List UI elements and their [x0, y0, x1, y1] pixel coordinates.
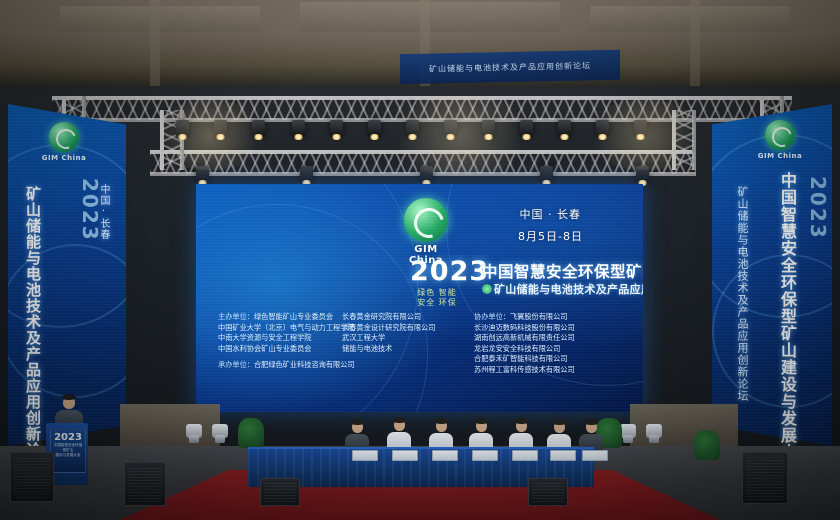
gim-mark-icon: [49, 122, 79, 152]
undertaker-line: 承办单位：合肥绿色矿业科技咨询有限公司: [218, 360, 355, 370]
conference-title-sub: 矿山储能与电池技术及产品应用创新论坛: [482, 281, 643, 297]
name-card: [550, 450, 576, 461]
name-card: [512, 450, 538, 461]
moving-head-light: [212, 424, 228, 438]
upper-screen-text: 矿山储能与电池技术及产品应用创新论坛: [429, 60, 591, 74]
par-light: [558, 120, 571, 137]
upper-screen-strip: 矿山储能与电池技术及产品应用创新论坛: [400, 50, 620, 85]
stage-step-left: [120, 404, 220, 451]
name-card: [352, 450, 378, 461]
person-head: [554, 421, 565, 433]
name-card: [432, 450, 458, 461]
ceiling-beam: [150, 0, 160, 86]
name-card: [582, 450, 608, 461]
undertaker-item-0: 合肥绿色矿业科技咨询有限公司: [254, 360, 355, 369]
support-item-3: 龙岩龙安安全科技有限公司: [474, 344, 624, 355]
decor-arc: [446, 184, 643, 386]
person-head: [476, 420, 487, 432]
support-label: 协办单位：: [474, 312, 510, 321]
left-gim-logo: GIM China: [34, 122, 94, 162]
forum-bullet-icon: [482, 284, 492, 294]
right-year: 2023: [806, 176, 830, 240]
person-head: [516, 420, 527, 432]
par-light: [636, 166, 649, 183]
stage-photo: 矿山储能与电池技术及产品应用创新论坛 GIM China 2023 中国·长春 …: [0, 0, 840, 520]
person-head: [394, 419, 405, 431]
organizer-block: 主办单位：绿色智能矿山专业委员会 中国矿业大学（北京）电气与动力工程学院 中南大…: [196, 312, 643, 375]
left-title: 矿山储能与电池技术及产品应用创新论坛: [24, 186, 41, 474]
host-column: 主办单位：绿色智能矿山专业委员会 中国矿业大学（北京）电气与动力工程学院 中南大…: [218, 312, 338, 375]
host-item-2-line: 中南大学资源与安全工程学院: [218, 333, 338, 344]
gim-mark-icon: [765, 120, 795, 150]
support-label-line: 协办单位：飞翼股份有限公司: [474, 312, 624, 323]
par-light: [482, 120, 495, 137]
person-head: [436, 420, 447, 432]
conference-place: 中国 · 长春: [520, 206, 582, 222]
conference-logo-wordmark: GIM China: [396, 244, 456, 266]
host-item-3-line: 中国水利协会矿山专业委员会: [218, 344, 338, 355]
right-title-main: 中国智慧安全环保型矿山建设与发展大会: [778, 172, 796, 478]
person-head: [352, 421, 363, 433]
host-item-0: 绿色智能矿山专业委员会: [254, 312, 333, 321]
conference-logo-icon: [404, 198, 448, 242]
conference-title-sub-text: 矿山储能与电池技术及产品应用创新论坛: [494, 283, 643, 296]
par-light: [214, 120, 227, 137]
decor-arc: [196, 204, 428, 412]
conference-slogan: 绿色 智能 安全 环保: [402, 288, 472, 308]
host-label: 主办单位：: [218, 312, 254, 321]
pa-speaker: [260, 478, 300, 506]
cohost-item-3: 储能与电池技术: [342, 344, 470, 355]
gim-wordmark: GIM China: [34, 154, 94, 162]
cohost-item-0: 长春黄金研究院有限公司: [342, 312, 470, 323]
pa-speaker: [528, 478, 568, 506]
par-light: [196, 166, 209, 183]
cohost-item-1: 长春黄金设计研究院有限公司: [342, 323, 470, 334]
par-light: [420, 166, 433, 183]
par-light: [252, 120, 265, 137]
par-light: [444, 120, 457, 137]
right-title-sub: 矿山储能与电池技术及产品应用创新论坛: [736, 186, 749, 402]
par-light: [540, 166, 553, 183]
pa-speaker: [10, 452, 54, 502]
slogan-line-2: 安全 环保: [402, 298, 472, 308]
support-column: 协办单位：飞翼股份有限公司 长沙迪迈数码科技股份有限公司 湖南创远高新机械有限责…: [474, 312, 624, 375]
support-item-5: 苏州程工富科传感技术有限公司: [474, 365, 624, 376]
support-item-1: 长沙迪迈数码科技股份有限公司: [474, 323, 624, 334]
podium-line-1: 中国智慧安全环保型矿山: [51, 443, 85, 453]
moving-head-light: [186, 424, 202, 438]
truss-inner-right: [672, 110, 696, 170]
host-label-line: 主办单位：绿色智能矿山专业委员会: [218, 312, 338, 323]
main-led-screen: GIM China 2023 绿色 智能 安全 环保 中国智慧安全环保型矿山建设…: [196, 184, 643, 412]
par-light: [520, 120, 533, 137]
par-light: [176, 120, 189, 137]
pa-speaker: [124, 462, 166, 506]
moving-head-light: [646, 424, 662, 438]
name-card: [392, 450, 418, 461]
right-gim-logo: GIM China: [750, 120, 810, 160]
support-item-2: 湖南创远高新机械有限责任公司: [474, 333, 624, 344]
par-light: [292, 120, 305, 137]
par-light: [330, 120, 343, 137]
conference-title-main: 中国智慧安全环保型矿山建设与发展大会: [482, 260, 643, 282]
par-light: [368, 120, 381, 137]
slogan-line-1: 绿色 智能: [402, 288, 472, 298]
undertaker-label: 承办单位：: [218, 360, 254, 369]
ceiling-panel: [60, 6, 260, 32]
gim-wordmark: GIM China: [750, 152, 810, 160]
decor-arc: [196, 184, 418, 412]
conference-year: 2023: [410, 256, 489, 287]
stage-plant: [238, 418, 264, 448]
cohost-item-2: 武汉工程大学: [342, 333, 470, 344]
left-place: 中国·长春: [96, 184, 111, 240]
ceiling-panel: [300, 2, 560, 32]
person-head: [63, 396, 75, 409]
truss-inner-left: [160, 110, 184, 170]
person-head: [586, 421, 597, 433]
par-light: [596, 120, 609, 137]
pa-speaker: [742, 452, 788, 504]
podium-year: 2023: [51, 432, 85, 443]
conference-dates: 8月5日-8日: [518, 228, 583, 244]
host-item-1-line: 中国矿业大学（北京）电气与动力工程学院: [218, 323, 338, 334]
ceiling-beam: [690, 0, 700, 86]
stage-plant: [694, 430, 720, 460]
moving-head-light: [620, 424, 636, 438]
name-card: [472, 450, 498, 461]
cohost-column: 长春黄金研究院有限公司 长春黄金设计研究院有限公司 武汉工程大学 储能与电池技术: [342, 312, 470, 375]
par-light: [300, 166, 313, 183]
podium-line-2: 建设与发展大会: [51, 453, 85, 458]
support-item-4: 合肥泰禾矿智能科技有限公司: [474, 354, 624, 365]
par-light: [406, 120, 419, 137]
par-light: [634, 120, 647, 137]
podium-panel: 2023 中国智慧安全环保型矿山 建设与发展大会: [50, 429, 86, 473]
support-item-0: 飞翼股份有限公司: [510, 312, 568, 321]
